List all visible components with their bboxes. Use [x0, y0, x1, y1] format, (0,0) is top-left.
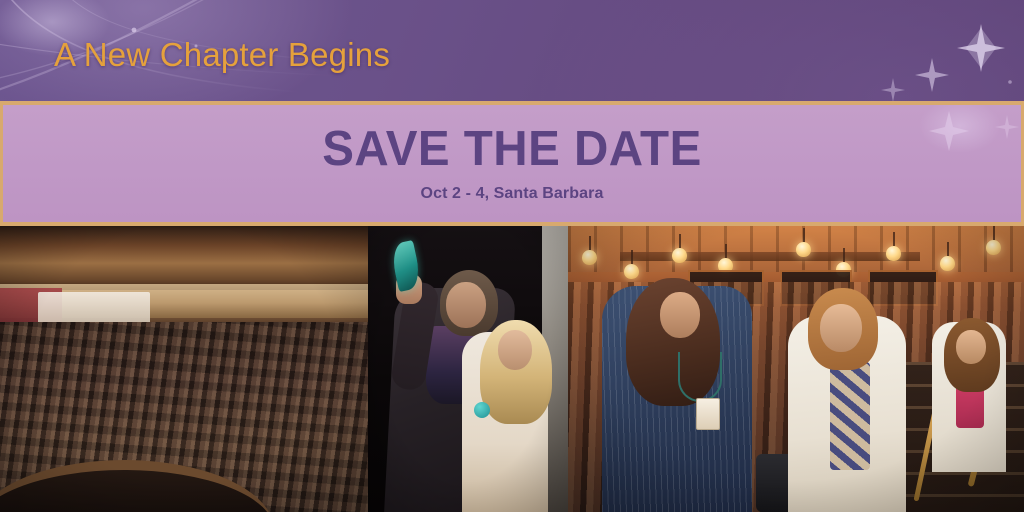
banner-header: A New Chapter Begins [0, 0, 1024, 101]
pendant-lamp-icon [940, 256, 955, 271]
photo-strip [0, 226, 1024, 512]
attendee-head [820, 304, 862, 352]
pendant-lamp-icon [986, 240, 1001, 255]
conference-badge [696, 398, 720, 430]
theater-auditorium-photo [0, 226, 368, 512]
event-date-location: Oct 2 - 4, Santa Barbara [3, 185, 1021, 203]
cheering-crowd-photo [568, 226, 1024, 512]
page-title: A New Chapter Begins [54, 36, 390, 74]
pendant-lamp-icon [886, 246, 901, 261]
pendant-lamp-icon [624, 264, 639, 279]
badge-lanyard [678, 352, 722, 402]
attendee-head [956, 330, 986, 364]
ceiling-beam [620, 252, 920, 261]
presenter-head [498, 330, 532, 370]
save-the-date-banner: A New Chapter Begins SAVE THE DATE Oct 2… [0, 0, 1024, 512]
pendant-lamp-icon [672, 248, 687, 263]
pendant-lamp-icon [582, 250, 597, 265]
save-the-date-band-inner: SAVE THE DATE Oct 2 - 4, Santa Barbara [3, 105, 1021, 222]
award-presentation-photo [368, 226, 568, 512]
save-the-date-band: SAVE THE DATE Oct 2 - 4, Santa Barbara [0, 101, 1024, 226]
save-the-date-heading: SAVE THE DATE [18, 125, 1005, 174]
pendant-lamp-icon [796, 242, 811, 257]
patterned-blouse [830, 362, 870, 470]
microphone [474, 402, 490, 418]
recipient-head [446, 282, 486, 328]
honoree-head [660, 292, 700, 338]
upper-balcony-front [0, 226, 368, 290]
